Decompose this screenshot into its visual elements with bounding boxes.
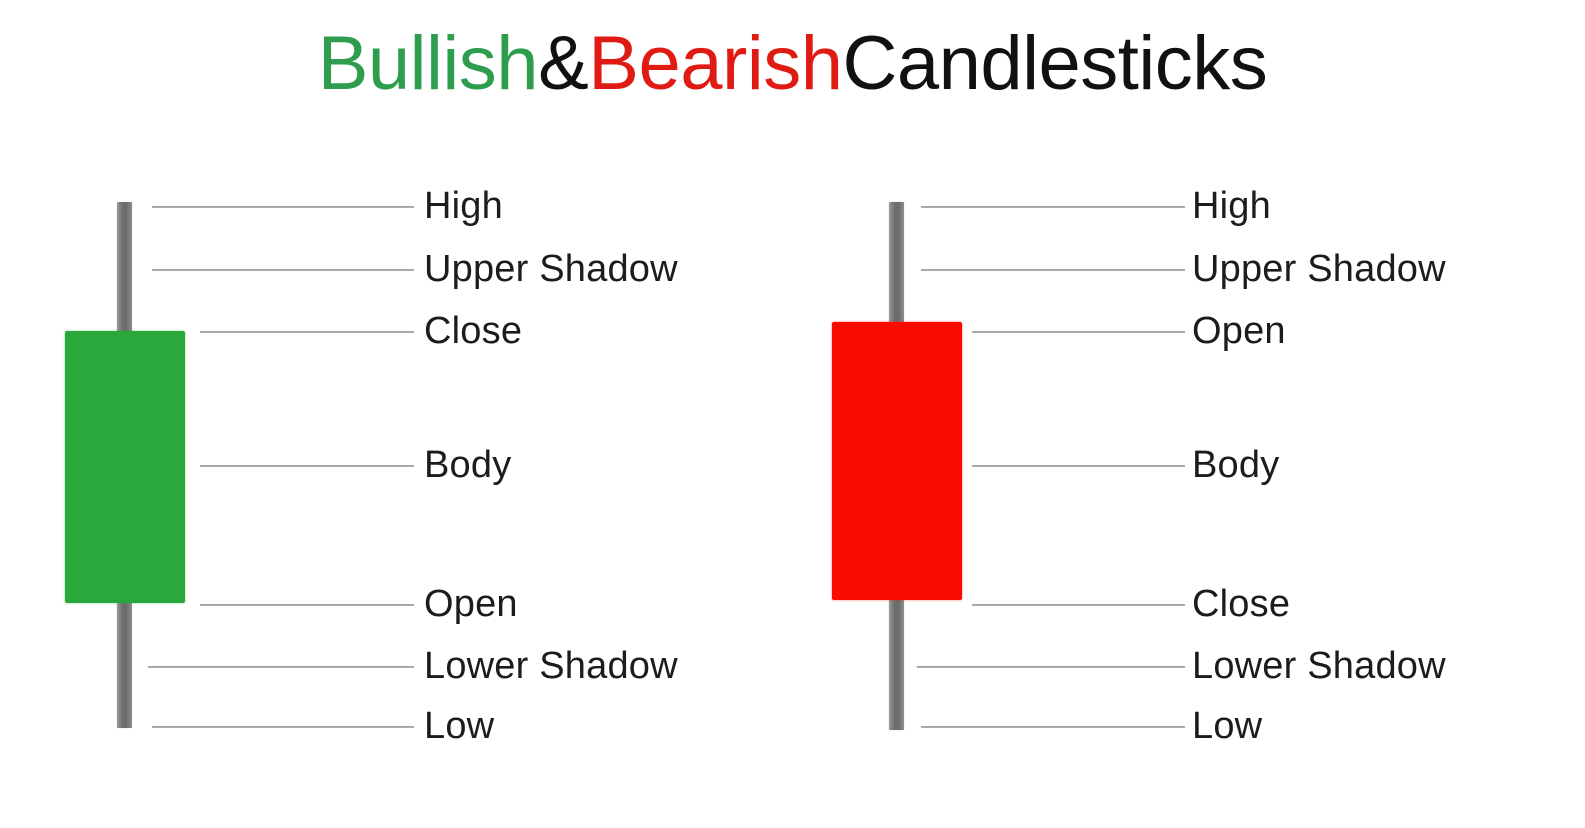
leader-line-bullish-lower-shadow [148, 666, 414, 668]
leader-line-bullish-high [152, 206, 414, 208]
leader-line-bearish-upper-shadow [921, 269, 1185, 271]
leader-line-bearish-body [972, 465, 1185, 467]
title-ampersand: & [538, 21, 588, 106]
bullish-label-close: Close [424, 312, 522, 350]
leader-line-bearish-open [972, 331, 1185, 333]
bullish-label-high: High [424, 187, 503, 225]
title-word-bearish: Bearish [588, 21, 842, 106]
bullish-body [65, 331, 185, 603]
leader-line-bullish-close [200, 331, 414, 333]
leader-line-bullish-upper-shadow [152, 269, 414, 271]
bearish-label-body: Body [1192, 446, 1279, 484]
bullish-label-body: Body [424, 446, 511, 484]
bearish-label-high: High [1192, 187, 1271, 225]
leader-line-bullish-open [200, 604, 414, 606]
bearish-label-low: Low [1192, 707, 1262, 745]
bullish-label-low: Low [424, 707, 494, 745]
leader-line-bullish-body [200, 465, 414, 467]
leader-line-bearish-high [921, 206, 1185, 208]
leader-line-bearish-lower-shadow [917, 666, 1185, 668]
bearish-label-open: Open [1192, 312, 1286, 350]
bearish-body [832, 322, 962, 600]
title-word-candlesticks: Candlesticks [842, 21, 1267, 106]
title-word-bullish: Bullish [318, 21, 538, 106]
bullish-label-lower-shadow: Lower Shadow [424, 647, 678, 685]
candlestick-diagram-page: Bullish&BearishCandlesticks High Upper S… [0, 0, 1585, 828]
leader-line-bullish-low [152, 726, 414, 728]
leader-line-bearish-low [921, 726, 1185, 728]
page-title: Bullish&BearishCandlesticks [0, 26, 1585, 102]
bullish-label-open: Open [424, 585, 518, 623]
bullish-label-upper-shadow: Upper Shadow [424, 250, 678, 288]
bearish-label-lower-shadow: Lower Shadow [1192, 647, 1446, 685]
bearish-label-close: Close [1192, 585, 1290, 623]
leader-line-bearish-close [972, 604, 1185, 606]
bearish-label-upper-shadow: Upper Shadow [1192, 250, 1446, 288]
